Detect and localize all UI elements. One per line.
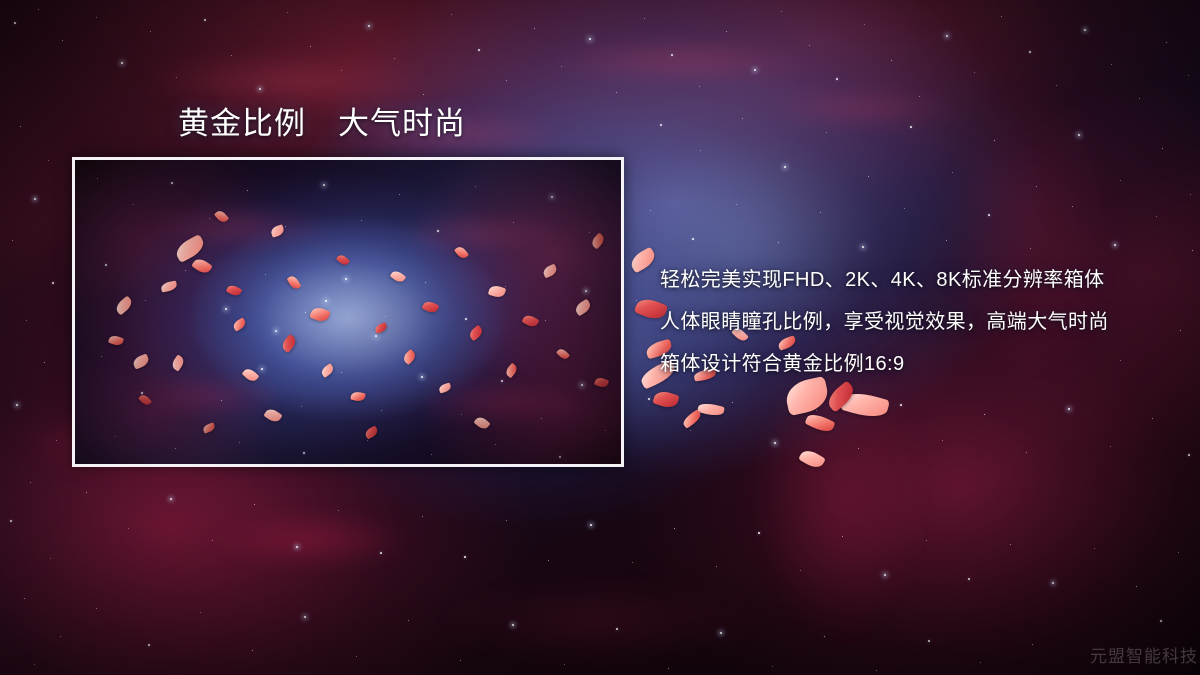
body-line-1: 轻松完美实现FHD、2K、4K、8K标准分辨率箱体 (660, 259, 1172, 301)
body-line-2: 人体眼睛瞳孔比例，享受视觉效果，高端大气时尚 (660, 301, 1172, 343)
page-title: 黄金比例 大气时尚 (178, 98, 466, 143)
preview-vignette (75, 160, 621, 464)
body-copy: 轻松完美实现FHD、2K、4K、8K标准分辨率箱体 人体眼睛瞳孔比例，享受视觉效… (660, 259, 1172, 385)
presentation-slide: 黄金比例 大气时尚 轻松完美实现FHD、2K、4K、8K标准分辨率箱体 人体眼睛… (0, 0, 1200, 675)
galaxy-preview-frame[interactable] (72, 157, 624, 467)
body-line-3: 箱体设计符合黄金比例16:9 (660, 343, 1172, 385)
company-watermark: 元盟智能科技 (1090, 642, 1198, 667)
